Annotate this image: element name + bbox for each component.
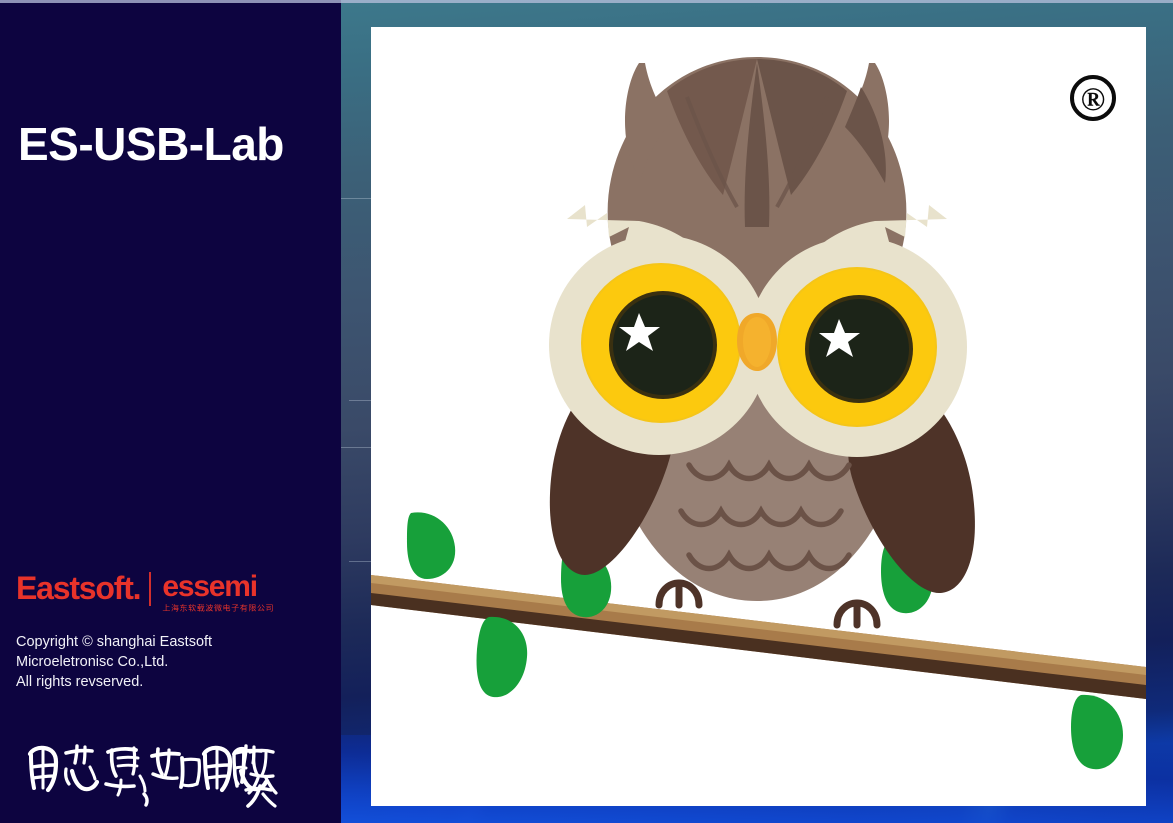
brand-essemi-group: essemi 上海东软载波微电子有限公司 (162, 572, 274, 613)
owl-eye-left (581, 263, 741, 423)
brand-chinese-subtitle: 上海东软载波微电子有限公司 (162, 605, 274, 612)
company-slogan-calligraphy (22, 736, 282, 808)
brand-name-essemi: essemi (162, 572, 274, 602)
registered-trademark-icon: ® (1070, 75, 1116, 121)
brand-name-eastsoft: Eastsoft. (16, 572, 140, 604)
splash-screen-window: ES-USB-Lab Eastsoft. essemi 上海东软载波微电子有限公… (0, 0, 1173, 823)
copyright-text: Copyright © shanghai Eastsoft Microeletr… (16, 632, 212, 692)
owl-eye-right (777, 267, 937, 427)
brand-logo: Eastsoft. essemi 上海东软载波微电子有限公司 (16, 572, 274, 613)
page-title: ES-USB-Lab (18, 117, 284, 171)
splash-image-panel: ® (371, 27, 1146, 806)
owl-illustration (371, 27, 1146, 806)
window-top-border (0, 0, 1173, 3)
brand-divider (149, 572, 151, 606)
sidebar-panel: ES-USB-Lab Eastsoft. essemi 上海东软载波微电子有限公… (0, 0, 341, 823)
